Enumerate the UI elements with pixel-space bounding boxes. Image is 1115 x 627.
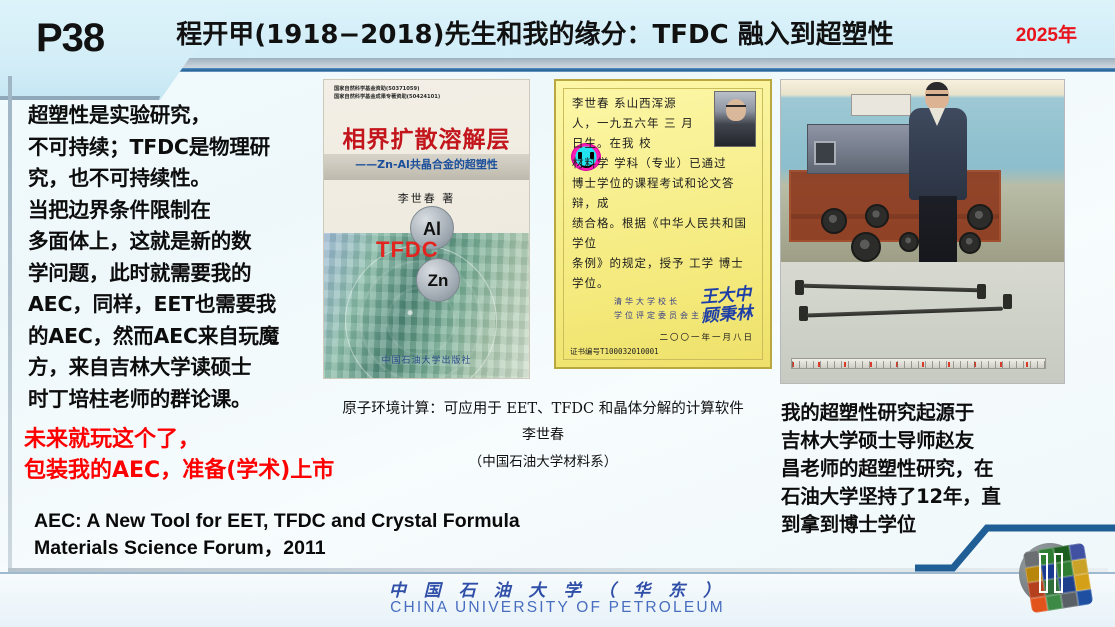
caption-line-3: （中国石油大学材料系）	[308, 449, 778, 476]
certificate-line: 李世春 系山西浑源	[572, 93, 758, 113]
right-body-line: 到拿到博士学位	[781, 511, 1091, 539]
right-body-line: 吉林大学硕士导师赵友	[781, 427, 1091, 455]
right-body-text: 我的超塑性研究起源于 吉林大学硕士导师赵友 昌老师的超塑性研究，在 石油大学坚持…	[781, 399, 1091, 539]
paper-reference: AEC: A New Tool for EET, TFDC and Crysta…	[34, 508, 520, 562]
left-body-line: AEC，同样，EET也需要我	[28, 289, 318, 321]
certificate-official-titles: 清华大学校长 学位评定委员会主席	[614, 295, 713, 323]
lab-control-panel	[851, 94, 911, 116]
figure-trousers	[919, 196, 957, 266]
specimen-rod	[803, 284, 981, 293]
book-title: 相界扩散溶解层	[324, 120, 529, 154]
certificate-number: 证书编号T100032010001	[570, 346, 659, 357]
lab-wheel	[865, 204, 889, 228]
caption-line-1: 原子环境计算：可应用于 EET、TFDC 和晶体分解的计算软件	[308, 396, 778, 422]
left-body-line: 方，来自吉林大学读硕士	[28, 352, 318, 384]
certificate-line: 材料学 学科（专业）已通过	[572, 153, 758, 173]
certificate-handwritten-text: 李世春 系山西浑源 人，一九五六年 三 月 日生。在我 校 材料学 学科（专业）…	[572, 93, 758, 293]
book-funding-note: 国家自然科学基金资助(50371059) 国家自然科学基金成果专著资助(5042…	[334, 86, 440, 101]
specimen-grip	[795, 280, 804, 295]
right-body-line: 昌老师的超塑性研究，在	[781, 455, 1091, 483]
specimen-grip	[977, 284, 986, 299]
highlight-line: 包装我的AEC，准备(学术)上市	[24, 455, 334, 486]
certificate-signature-line: 顾秉林	[701, 304, 753, 327]
book-funding-line: 国家自然科学基金资助(50371059)	[334, 86, 440, 94]
footer-university-english: CHINA UNIVERSITY OF PETROLEUM	[0, 599, 1115, 617]
lab-equipment-photo	[780, 79, 1065, 384]
doctoral-certificate-image: 李世春 系山西浑源 人，一九五六年 三 月 日生。在我 校 材料学 学科（专业）…	[554, 79, 772, 369]
certificate-official-line: 清华大学校长	[614, 295, 713, 309]
lab-wheel	[851, 232, 881, 262]
left-body-line: 超塑性是实验研究，	[28, 100, 318, 132]
reference-line: AEC: A New Tool for EET, TFDC and Crysta…	[34, 508, 520, 535]
book-publisher: 中国石油大学出版社	[324, 353, 529, 366]
footer-university-chinese: 中 国 石 油 大 学 （ 华 东 ）	[0, 576, 1115, 601]
university-emblem-logo	[1015, 539, 1097, 617]
right-body-line: 我的超塑性研究起源于	[781, 399, 1091, 427]
left-body-line: 究，也不可持续性。	[28, 163, 318, 195]
left-body-line: 多面体上，这就是新的数	[28, 226, 318, 258]
certificate-line: 日生。在我 校	[572, 133, 758, 153]
left-body-line: 不可持续；TFDC是物理研	[28, 132, 318, 164]
page-title: 程开甲(1918−2018)先生和我的缘分：TFDC 融入到超塑性	[140, 14, 930, 51]
lab-wheel	[821, 208, 847, 234]
photo-lab-scene	[781, 80, 1064, 262]
book-author: 李世春 著	[324, 190, 529, 206]
slide-footer: 中 国 石 油 大 学 （ 华 东 ） CHINA UNIVERSITY OF …	[0, 572, 1115, 627]
certificate-official-line: 学位评定委员会主席	[614, 309, 713, 323]
left-body-line: 当把边界条件限制在	[28, 195, 318, 227]
center-caption: 原子环境计算：可应用于 EET、TFDC 和晶体分解的计算软件 李世春 （中国石…	[308, 396, 778, 476]
logo-bar-right	[1054, 553, 1063, 593]
reference-line: Materials Science Forum，2011	[34, 535, 520, 562]
logo-tile	[1076, 588, 1094, 606]
left-body-line: 学问题，此时就需要我的	[28, 258, 318, 290]
logo-pillar-bars	[1037, 553, 1067, 593]
certificate-line: 人，一九五六年 三 月	[572, 113, 758, 133]
measuring-ruler	[791, 358, 1046, 369]
researcher-figure	[907, 80, 971, 266]
left-body-text: 超塑性是实验研究， 不可持续；TFDC是物理研 究，也不可持续性。 当把边界条件…	[28, 100, 318, 415]
specimen-grip	[1003, 294, 1012, 309]
left-body-line: 时丁培柱老师的群论课。	[28, 384, 318, 416]
book-funding-line: 国家自然科学基金成果专著资助(50424101)	[334, 94, 440, 102]
slide-number: P38	[36, 16, 104, 61]
header-year-badge: 2025年	[1016, 20, 1077, 47]
photo-specimen-scene	[781, 262, 1064, 384]
specimen-rod-drawn	[807, 307, 1003, 318]
figure-glasses	[926, 94, 948, 98]
caption-line-2: 李世春	[308, 422, 778, 449]
book-zn-bubble: Zn	[416, 258, 460, 302]
certificate-line: 条例》的规定，授予 工学 博士	[572, 253, 758, 273]
slide-canvas: P38 程开甲(1918−2018)先生和我的缘分：TFDC 融入到超塑性 20…	[0, 0, 1115, 627]
certificate-signatures: 王大中 顾秉林	[700, 285, 754, 326]
certificate-line: 绩合格。根据《中华人民共和国学位	[572, 213, 758, 253]
certificate-date: 二〇〇一年一月八日	[659, 331, 754, 343]
content-frame-left-edge	[8, 76, 12, 570]
certificate-line: 博士学位的课程考试和论文答辩，成	[572, 173, 758, 213]
right-body-line: 石油大学坚持了12年，直	[781, 483, 1091, 511]
book-cover-image: 国家自然科学基金资助(50371059) 国家自然科学基金成果专著资助(5042…	[323, 79, 530, 379]
logo-bar-left	[1039, 553, 1048, 593]
left-body-line: 的AEC，然而AEC来自玩魔	[28, 321, 318, 353]
book-subtitle: ——Zn-Al共晶合金的超塑性	[324, 156, 529, 172]
highlight-line: 未来就玩这个了，	[24, 424, 334, 455]
left-highlight-text: 未来就玩这个了， 包装我的AEC，准备(学术)上市	[24, 424, 334, 486]
